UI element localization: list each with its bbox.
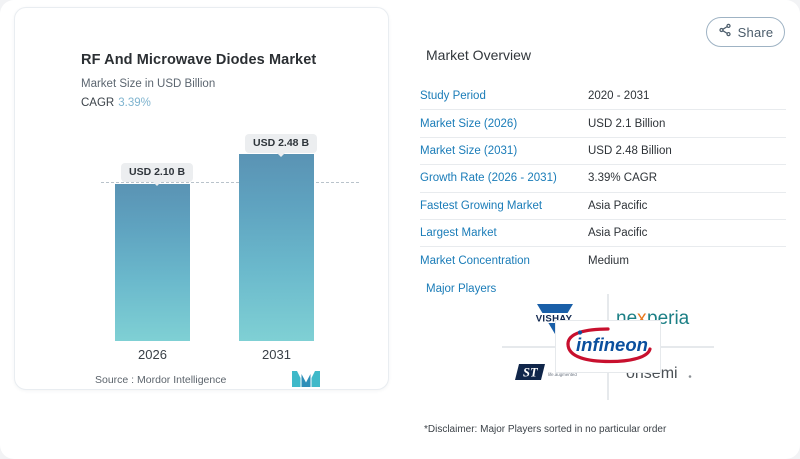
row-value: Asia Pacific: [588, 227, 647, 239]
chart-subtitle: Market Size in USD Billion: [81, 78, 215, 90]
reference-dashed-line: [101, 182, 359, 183]
bar-2026[interactable]: [115, 184, 190, 341]
chart-cagr-label: CAGR: [81, 97, 114, 109]
player-cell-infineon: infineon: [555, 320, 661, 373]
chart-source-label: Source :: [95, 374, 134, 386]
row-key: Growth Rate (2026 - 2031): [420, 172, 588, 184]
row-value: USD 2.48 Billion: [588, 145, 672, 157]
row-value: 3.39% CAGR: [588, 172, 657, 184]
bar-value-label-2026: USD 2.10 B: [121, 163, 193, 182]
chart-source-name: Mordor Intelligence: [137, 374, 226, 386]
share-button-label: Share: [738, 25, 774, 40]
major-players-label: Major Players: [426, 283, 496, 295]
svg-text:ST: ST: [523, 365, 539, 379]
svg-text:infineon: infineon: [576, 334, 648, 355]
row-key: Largest Market: [420, 227, 588, 239]
row-key: Market Size (2031): [420, 145, 588, 157]
table-row: Market Concentration Medium: [420, 247, 786, 273]
share-nodes-icon: [718, 23, 732, 42]
chart-source: Source : Mordor Intelligence: [95, 374, 226, 386]
share-button[interactable]: Share: [706, 17, 785, 47]
major-players-logo-grid: VISHAY. ne x peria ST life.augmented: [502, 294, 714, 400]
row-value: Asia Pacific: [588, 200, 647, 212]
row-key: Study Period: [420, 90, 588, 102]
table-row: Study Period 2020 - 2031: [420, 83, 786, 110]
chart-cagr-value: 3.39%: [118, 97, 151, 109]
table-row: Market Size (2031) USD 2.48 Billion: [420, 138, 786, 165]
table-row: Market Size (2026) USD 2.1 Billion: [420, 110, 786, 137]
row-value: USD 2.1 Billion: [588, 118, 665, 130]
market-overview-table: Study Period 2020 - 2031 Market Size (20…: [420, 83, 786, 274]
infineon-logo: infineon: [562, 324, 654, 369]
table-row: Fastest Growing Market Asia Pacific: [420, 193, 786, 220]
row-key: Fastest Growing Market: [420, 200, 588, 212]
bar-value-label-2031: USD 2.48 B: [245, 134, 317, 153]
bar-2031[interactable]: [239, 154, 314, 341]
chart-title: RF And Microwave Diodes Market: [81, 52, 316, 68]
mordor-intelligence-logo: [292, 371, 320, 392]
disclaimer-text: *Disclaimer: Major Players sorted in no …: [424, 424, 666, 435]
row-value: Medium: [588, 255, 629, 267]
market-report-card: Share RF And Microwave Diodes Market Mar…: [0, 0, 800, 459]
x-axis-label-2031: 2031: [239, 347, 314, 362]
table-row: Growth Rate (2026 - 2031) 3.39% CAGR: [420, 165, 786, 192]
chart-cagr: CAGR3.39%: [81, 97, 151, 109]
market-overview-title: Market Overview: [426, 47, 531, 63]
row-value: 2020 - 2031: [588, 90, 649, 102]
table-row: Largest Market Asia Pacific: [420, 220, 786, 247]
x-axis-label-2026: 2026: [115, 347, 190, 362]
chart-card: RF And Microwave Diodes Market Market Si…: [14, 7, 389, 390]
row-key: Market Concentration: [420, 255, 588, 267]
row-key: Market Size (2026): [420, 118, 588, 130]
